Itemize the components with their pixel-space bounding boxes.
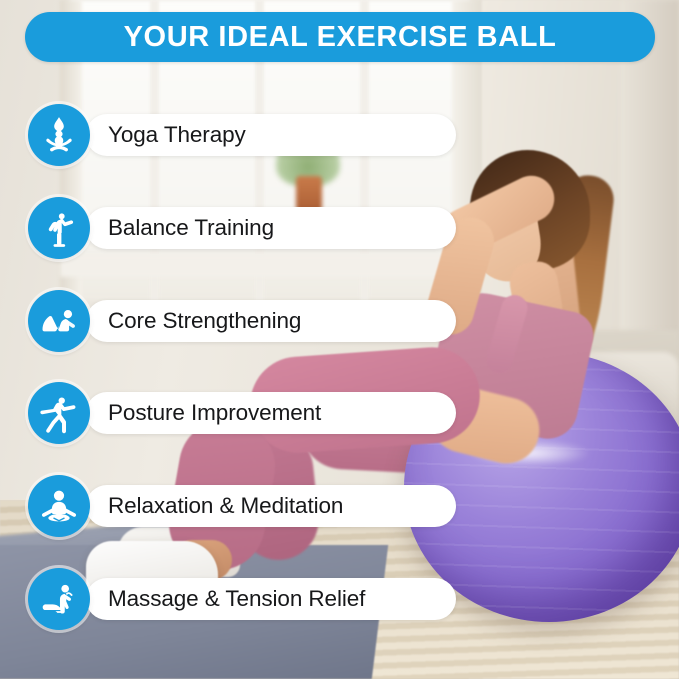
feature-label: Yoga Therapy — [108, 122, 246, 148]
feature-pill: Yoga Therapy — [86, 114, 456, 156]
feature-row-posture-improvement[interactable]: Posture Improvement — [28, 382, 456, 444]
feature-label: Core Strengthening — [108, 308, 301, 334]
feature-row-relaxation-meditation[interactable]: Relaxation & Meditation — [28, 475, 456, 537]
feature-label: Relaxation & Meditation — [108, 493, 343, 519]
massage-therapy-icon — [28, 568, 90, 630]
feature-label: Massage & Tension Relief — [108, 586, 365, 612]
posture-warrior-pose-icon — [28, 382, 90, 444]
feature-pill: Relaxation & Meditation — [86, 485, 456, 527]
feature-row-balance-training[interactable]: Balance Training — [28, 197, 456, 259]
feature-label: Balance Training — [108, 215, 274, 241]
feature-pill: Balance Training — [86, 207, 456, 249]
feature-list: Yoga Therapy Balance Training — [0, 0, 679, 679]
balance-dancer-pose-icon — [28, 197, 90, 259]
feature-pill: Massage & Tension Relief — [86, 578, 456, 620]
meditation-seated-icon — [28, 475, 90, 537]
feature-pill: Core Strengthening — [86, 300, 456, 342]
feature-label: Posture Improvement — [108, 400, 321, 426]
product-feature-graphic: YOUR IDEAL EXERCISE BALL Yoga Therapy — [0, 0, 679, 679]
yoga-lotus-arms-up-icon — [28, 104, 90, 166]
feature-pill: Posture Improvement — [86, 392, 456, 434]
feature-row-yoga-therapy[interactable]: Yoga Therapy — [28, 104, 456, 166]
core-situp-crunch-icon — [28, 290, 90, 352]
feature-row-core-strengthening[interactable]: Core Strengthening — [28, 290, 456, 352]
feature-row-massage-tension-relief[interactable]: Massage & Tension Relief — [28, 568, 456, 630]
